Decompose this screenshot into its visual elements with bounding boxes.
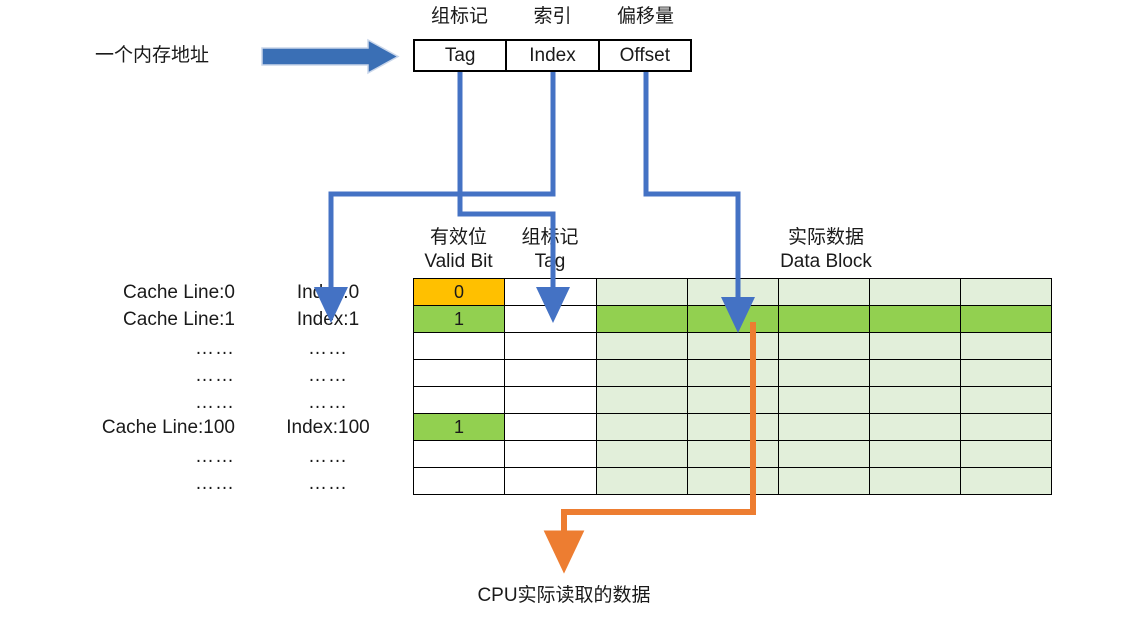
data-cell bbox=[688, 441, 779, 468]
data-cell bbox=[688, 387, 779, 414]
table-row bbox=[414, 441, 1052, 468]
address-header-tag-cn: 组标记 bbox=[413, 5, 506, 29]
data-cell bbox=[597, 468, 688, 495]
data-cell bbox=[597, 279, 688, 306]
cache-line-label: Cache Line:0 bbox=[60, 281, 235, 305]
table-row bbox=[414, 333, 1052, 360]
data-cell bbox=[688, 333, 779, 360]
index-label: Index:1 bbox=[258, 308, 398, 332]
cache-line-label: Cache Line:1 bbox=[60, 308, 235, 332]
data-cell bbox=[688, 468, 779, 495]
data-cell bbox=[779, 279, 870, 306]
data-cell bbox=[870, 306, 961, 333]
cache-line-label: …… bbox=[60, 337, 235, 361]
data-cell bbox=[961, 279, 1052, 306]
valid-bit-cell bbox=[414, 387, 505, 414]
tag-cell bbox=[505, 306, 597, 333]
table-row: 0 bbox=[414, 279, 1052, 306]
data-cell bbox=[961, 360, 1052, 387]
tag-cell bbox=[505, 387, 597, 414]
data-cell bbox=[870, 279, 961, 306]
memory-address-box: Tag Index Offset bbox=[413, 39, 692, 72]
data-cell bbox=[779, 441, 870, 468]
data-cell bbox=[597, 333, 688, 360]
index-label: …… bbox=[258, 391, 398, 415]
tag-cell bbox=[505, 333, 597, 360]
column-header-tag-cn: 组标记 bbox=[504, 226, 596, 250]
tag-cell bbox=[505, 360, 597, 387]
valid-bit-cell: 1 bbox=[414, 306, 505, 333]
data-cell bbox=[961, 306, 1052, 333]
data-cell bbox=[961, 468, 1052, 495]
data-cell bbox=[870, 333, 961, 360]
data-cell bbox=[779, 387, 870, 414]
table-row bbox=[414, 360, 1052, 387]
data-cell bbox=[688, 306, 779, 333]
cache-line-label: …… bbox=[60, 364, 235, 388]
data-cell bbox=[961, 414, 1052, 441]
data-cell bbox=[688, 360, 779, 387]
table-row bbox=[414, 468, 1052, 495]
diagram-canvas: 组标记 索引 偏移量 一个内存地址 Tag Index Offset 有效位 V… bbox=[0, 0, 1142, 638]
index-label: …… bbox=[258, 472, 398, 496]
valid-bit-cell bbox=[414, 468, 505, 495]
tag-cell bbox=[505, 468, 597, 495]
data-cell bbox=[597, 360, 688, 387]
data-cell bbox=[597, 306, 688, 333]
data-cell bbox=[779, 414, 870, 441]
cache-line-label: …… bbox=[60, 445, 235, 469]
tag-cell bbox=[505, 279, 597, 306]
data-cell bbox=[870, 387, 961, 414]
tag-cell bbox=[505, 414, 597, 441]
column-header-valid-en: Valid Bit bbox=[413, 250, 504, 274]
cache-table: 0 1 bbox=[413, 278, 1052, 495]
valid-bit-cell bbox=[414, 360, 505, 387]
result-label: CPU实际读取的数据 bbox=[434, 584, 694, 608]
data-cell bbox=[688, 279, 779, 306]
cache-line-label: …… bbox=[60, 472, 235, 496]
address-header-index-cn: 索引 bbox=[506, 5, 599, 29]
data-cell bbox=[779, 306, 870, 333]
valid-bit-cell bbox=[414, 441, 505, 468]
cache-line-label: Cache Line:100 bbox=[60, 416, 235, 440]
column-header-valid-cn: 有效位 bbox=[413, 226, 504, 250]
data-cell bbox=[597, 414, 688, 441]
data-cell bbox=[961, 387, 1052, 414]
index-label: …… bbox=[258, 364, 398, 388]
address-field-offset: Offset bbox=[598, 41, 690, 70]
data-cell bbox=[870, 441, 961, 468]
index-label: Index:0 bbox=[258, 281, 398, 305]
data-cell bbox=[961, 441, 1052, 468]
index-label: …… bbox=[258, 445, 398, 469]
data-cell bbox=[688, 414, 779, 441]
address-field-tag: Tag bbox=[415, 41, 505, 70]
table-row: 1 bbox=[414, 414, 1052, 441]
index-label: …… bbox=[258, 337, 398, 361]
data-cell bbox=[870, 468, 961, 495]
valid-bit-cell bbox=[414, 333, 505, 360]
valid-bit-cell: 0 bbox=[414, 279, 505, 306]
column-header-tag-en: Tag bbox=[504, 250, 596, 274]
memory-address-label: 一个内存地址 bbox=[95, 44, 209, 68]
valid-bit-cell: 1 bbox=[414, 414, 505, 441]
data-cell bbox=[779, 360, 870, 387]
column-header-data-cn: 实际数据 bbox=[733, 226, 919, 250]
data-cell bbox=[597, 387, 688, 414]
tag-cell bbox=[505, 441, 597, 468]
table-row-selected: 1 bbox=[414, 306, 1052, 333]
address-header-offset-cn: 偏移量 bbox=[599, 5, 692, 29]
cache-line-label: …… bbox=[60, 391, 235, 415]
data-cell bbox=[779, 333, 870, 360]
index-label: Index:100 bbox=[258, 416, 398, 440]
data-cell bbox=[870, 360, 961, 387]
data-cell bbox=[961, 333, 1052, 360]
column-header-data-en: Data Block bbox=[733, 250, 919, 274]
data-cell bbox=[870, 414, 961, 441]
table-row bbox=[414, 387, 1052, 414]
memory-address-block-arrow bbox=[262, 40, 398, 73]
address-field-index: Index bbox=[505, 41, 597, 70]
data-cell bbox=[779, 468, 870, 495]
data-cell bbox=[597, 441, 688, 468]
